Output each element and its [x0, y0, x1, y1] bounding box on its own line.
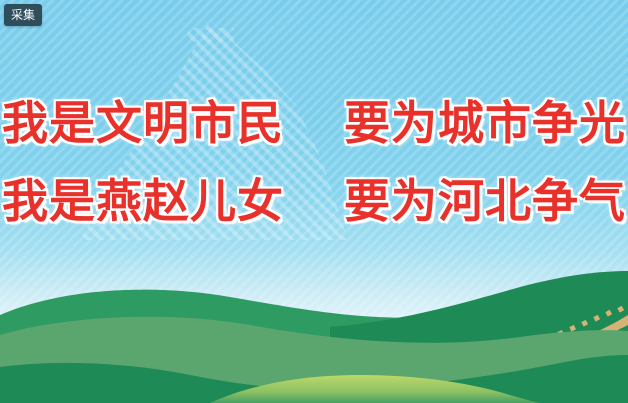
banner-screenshot: 我是文明市民 要为城市争光 我是燕赵儿女 要为河北争气 采集: [0, 0, 628, 403]
slogan-line-2-right: 要为河北争气: [344, 178, 626, 224]
slogan-line-1: 我是文明市民 要为城市争光: [0, 100, 628, 146]
slogan-line-1-right: 要为城市争光: [344, 100, 626, 146]
landscape-scene: [0, 263, 628, 403]
slogan-line-1-left: 我是文明市民: [2, 100, 284, 146]
slogan-line-2-left: 我是燕赵儿女: [2, 178, 284, 224]
capture-button[interactable]: 采集: [4, 4, 42, 26]
slogan-line-2: 我是燕赵儿女 要为河北争气: [0, 178, 628, 224]
